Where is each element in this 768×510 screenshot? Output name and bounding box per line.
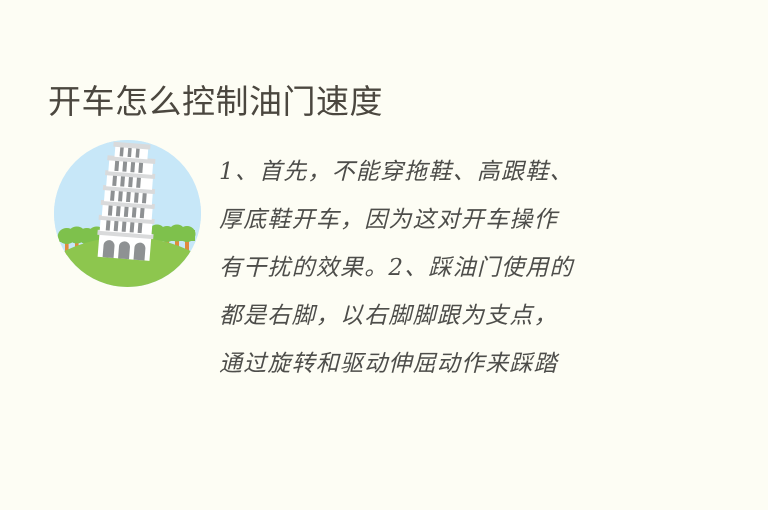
page-title: 开车怎么控制油门速度 (48, 79, 383, 125)
article-content-row: 1、首先，不能穿拖鞋、高跟鞋、 厚底鞋开车，因为这对开车操作 有干扰的效果。2、… (0, 140, 768, 390)
article-page: 开车怎么控制油门速度 (0, 0, 768, 510)
body-line: 厚底鞋开车，因为这对开车操作 (219, 196, 664, 244)
body-line: 有干扰的效果。2、踩油门使用的 (219, 244, 664, 292)
article-body: 1、首先，不能穿拖鞋、高跟鞋、 厚底鞋开车，因为这对开车操作 有干扰的效果。2、… (219, 148, 664, 388)
body-line: 通过旋转和驱动伸屈动作来踩踏 (219, 340, 664, 388)
body-line: 1、首先，不能穿拖鞋、高跟鞋、 (219, 148, 664, 196)
leaning-tower-icon (54, 140, 201, 287)
body-line: 都是右脚，以右脚脚跟为支点， (219, 292, 664, 340)
article-thumbnail[interactable] (54, 140, 201, 287)
